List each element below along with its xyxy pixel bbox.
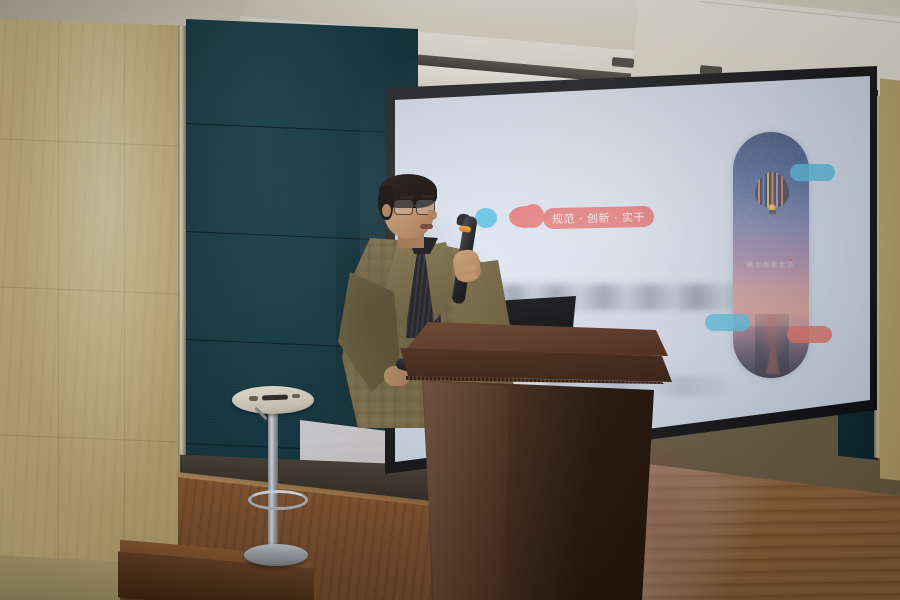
stool-post [268,410,278,546]
wall-panel-tan-right [880,78,900,481]
podium-facet-left [418,382,508,600]
cyan-pill-top [790,164,835,181]
bar-stool[interactable] [232,386,318,572]
cyan-pill-bottom [705,314,750,331]
nose [428,210,437,220]
stool-seat-slot [262,395,288,401]
mouth [420,224,433,229]
stool-seat-notch [292,394,300,398]
hero-accent-dot [789,258,792,261]
stool-seat-notch [249,396,258,401]
red-pill-bottom [787,326,832,343]
hero-caption: 视力改变生活 [733,260,809,269]
hot-air-balloon-icon [755,172,789,214]
stool-base [244,544,308,566]
presentation-room-scene: 规范 · 创新 · 实干 视力改变生活 [0,0,900,600]
tree-silhouette [766,338,780,374]
podium [398,322,674,600]
wall-panel-tan-left [0,18,186,586]
microphone-band [459,225,472,233]
stool-footrest-ring [248,490,308,510]
slide-badge: 规范 · 创新 · 实干 [543,206,654,229]
ear [382,204,391,217]
